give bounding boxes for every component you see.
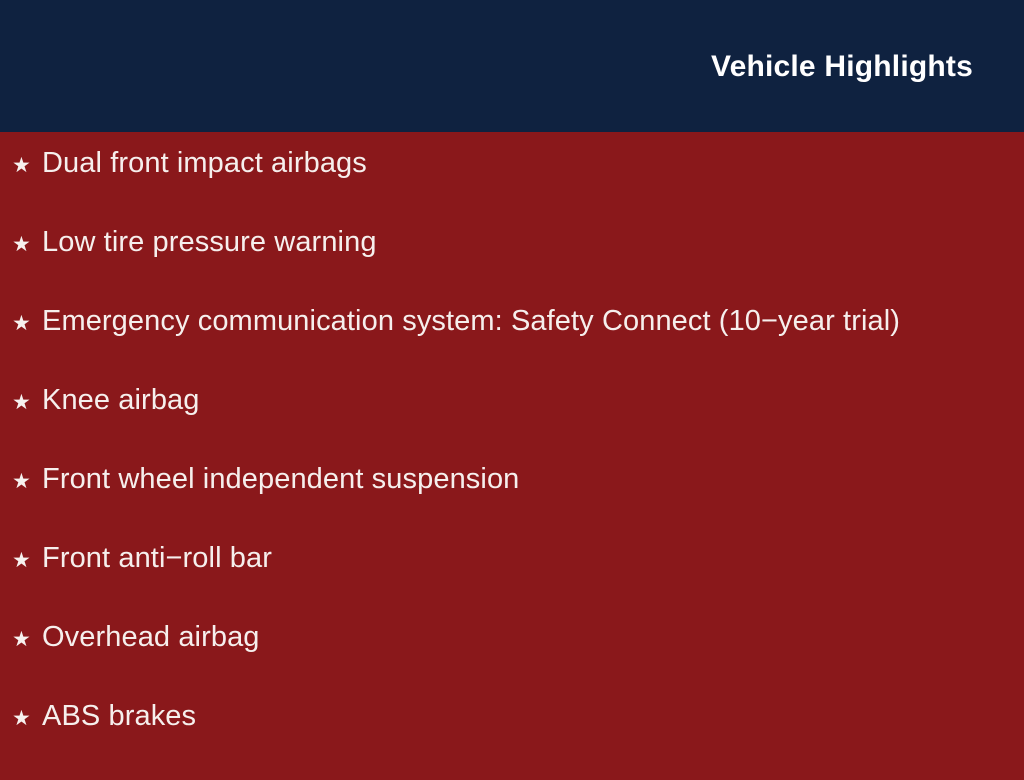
star-icon: ★ bbox=[12, 708, 42, 729]
list-item-label: Emergency communication system: Safety C… bbox=[42, 306, 1024, 338]
list-item-label: ABS brakes bbox=[42, 701, 1024, 733]
list-item-label: Dual front impact airbags bbox=[42, 148, 1024, 180]
star-icon: ★ bbox=[12, 234, 42, 255]
star-icon: ★ bbox=[12, 392, 42, 413]
page-title: Vehicle Highlights bbox=[711, 52, 973, 82]
list-item: ★ Overhead airbag bbox=[0, 622, 1024, 701]
list-item-label: Front wheel independent suspension bbox=[42, 464, 1024, 496]
list-item-label: Low tire pressure warning bbox=[42, 227, 1024, 259]
list-item: ★ Front wheel independent suspension bbox=[0, 464, 1024, 543]
star-icon: ★ bbox=[12, 155, 42, 176]
star-icon: ★ bbox=[12, 471, 42, 492]
list-item: ★ Low tire pressure warning bbox=[0, 227, 1024, 306]
list-item: ★ Emergency communication system: Safety… bbox=[0, 306, 1024, 385]
list-item: ★ Front anti−roll bar bbox=[0, 543, 1024, 622]
star-icon: ★ bbox=[12, 550, 42, 571]
list-item-label: Knee airbag bbox=[42, 385, 1024, 417]
list-item: ★ Knee airbag bbox=[0, 385, 1024, 464]
vehicle-highlights-list: ★ Dual front impact airbags ★ Low tire p… bbox=[0, 148, 1024, 780]
list-item: ★ ABS brakes bbox=[0, 701, 1024, 780]
slide-header-band: Vehicle Highlights bbox=[0, 0, 1024, 132]
list-item: ★ Dual front impact airbags bbox=[0, 148, 1024, 227]
slide-body: ★ Dual front impact airbags ★ Low tire p… bbox=[0, 132, 1024, 768]
list-item-label: Overhead airbag bbox=[42, 622, 1024, 654]
list-item-label: Front anti−roll bar bbox=[42, 543, 1024, 575]
star-icon: ★ bbox=[12, 629, 42, 650]
slide-vehicle-highlights: Vehicle Highlights ★ Dual front impact a… bbox=[0, 0, 1024, 768]
star-icon: ★ bbox=[12, 313, 42, 334]
